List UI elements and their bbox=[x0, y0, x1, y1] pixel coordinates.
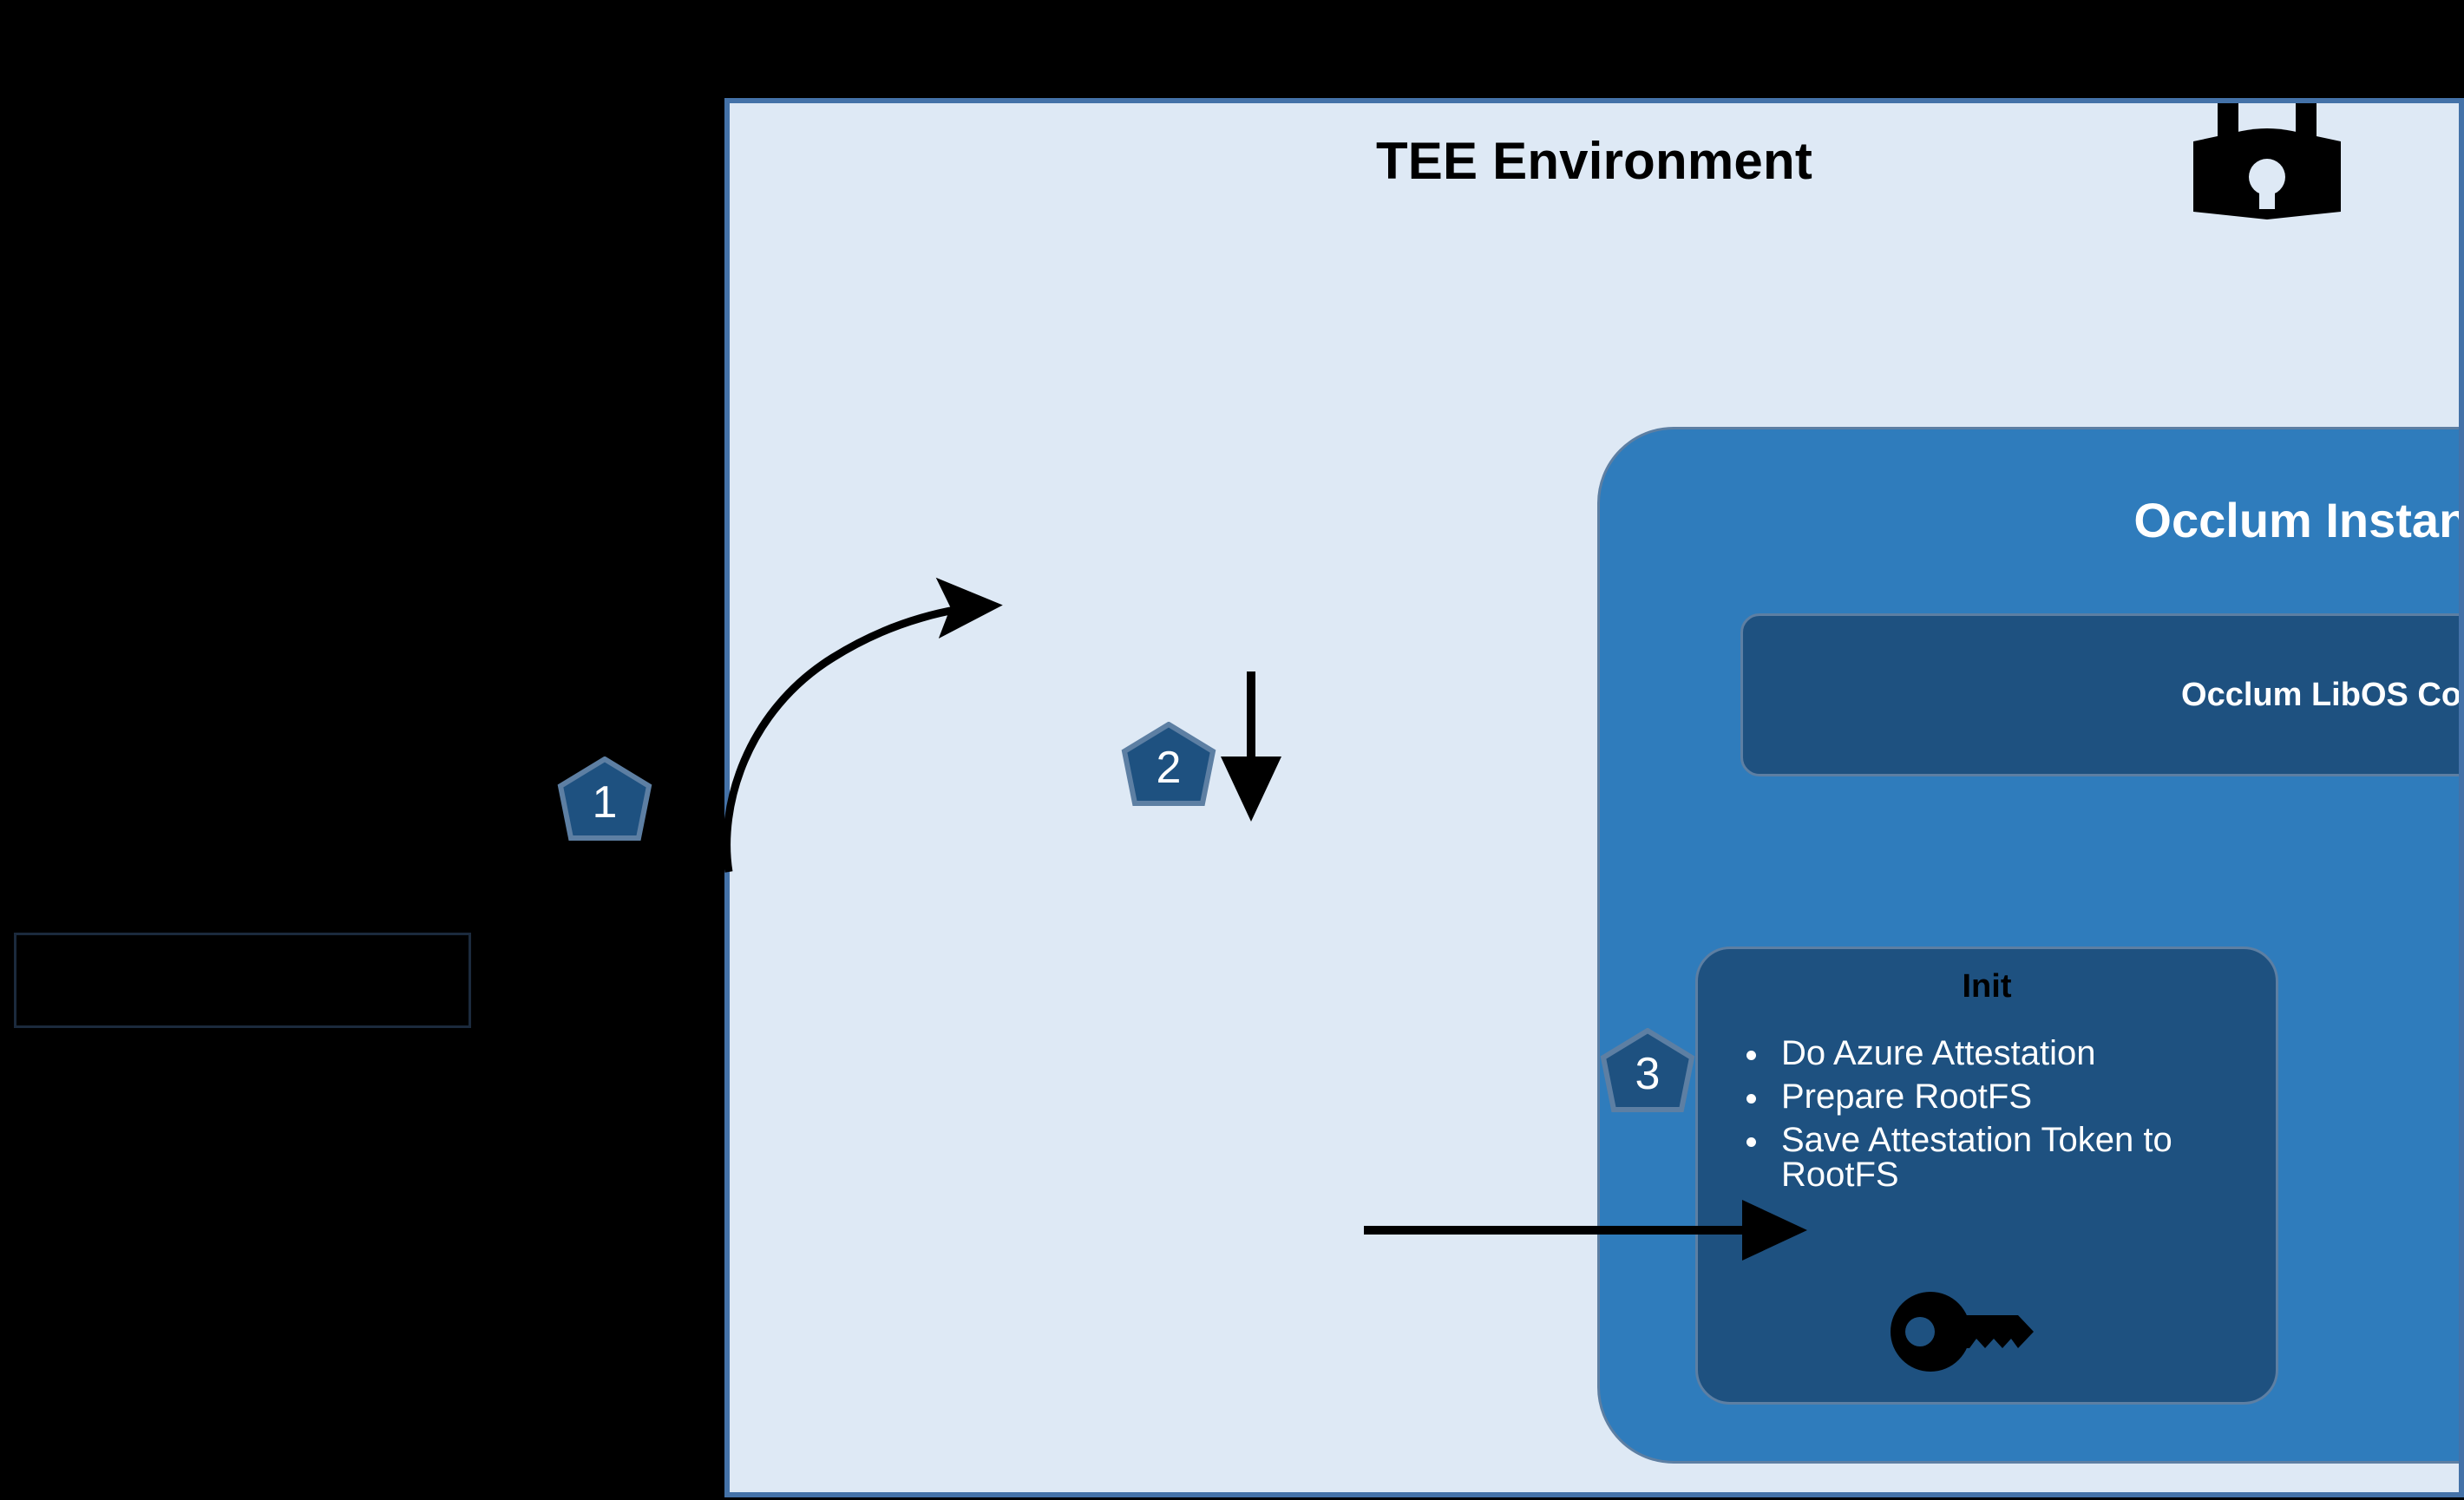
list-item: Prepare RootFS bbox=[1727, 1079, 2260, 1114]
occlum-libos-core-label: Occlum LibOS Core bbox=[2181, 677, 2464, 714]
init-bullet-list: Do Azure Attestation Prepare RootFS Save… bbox=[1727, 1036, 2260, 1201]
step-badge-2: 2 bbox=[1117, 722, 1220, 817]
bullet-dot-icon bbox=[1746, 1094, 1756, 1104]
step-badge-number: 2 bbox=[1117, 722, 1220, 817]
list-item: Do Azure Attestation bbox=[1727, 1036, 2260, 1071]
key-icon bbox=[1890, 1285, 2044, 1379]
tee-environment-panel: TEE Environment Occlum Instance Occlum L… bbox=[724, 98, 2464, 1497]
init-bullet-text: Prepare RootFS bbox=[1781, 1078, 2032, 1116]
occlum-instance-title: Occlum Instance bbox=[1600, 492, 2464, 548]
init-title: Init bbox=[1698, 968, 2276, 1005]
bullet-dot-icon bbox=[1746, 1137, 1756, 1147]
padlock-icon bbox=[2167, 98, 2367, 261]
step-badge-number: 1 bbox=[554, 757, 656, 852]
step-badge-3: 3 bbox=[1596, 1028, 1699, 1123]
init-bullet-text: Save Attestation Token to RootFS bbox=[1781, 1121, 2172, 1194]
diagram-canvas: TEE Environment Occlum Instance Occlum L… bbox=[0, 0, 2464, 1500]
occlum-libos-core-box: Occlum LibOS Core bbox=[1740, 613, 2464, 776]
init-bullet-text: Do Azure Attestation bbox=[1781, 1034, 2095, 1072]
left-placeholder-box bbox=[14, 933, 471, 1028]
step-badge-number: 3 bbox=[1596, 1028, 1699, 1123]
list-item: Save Attestation Token to RootFS bbox=[1727, 1123, 2260, 1192]
step-badge-1: 1 bbox=[554, 757, 656, 852]
bullet-dot-icon bbox=[1746, 1051, 1756, 1060]
